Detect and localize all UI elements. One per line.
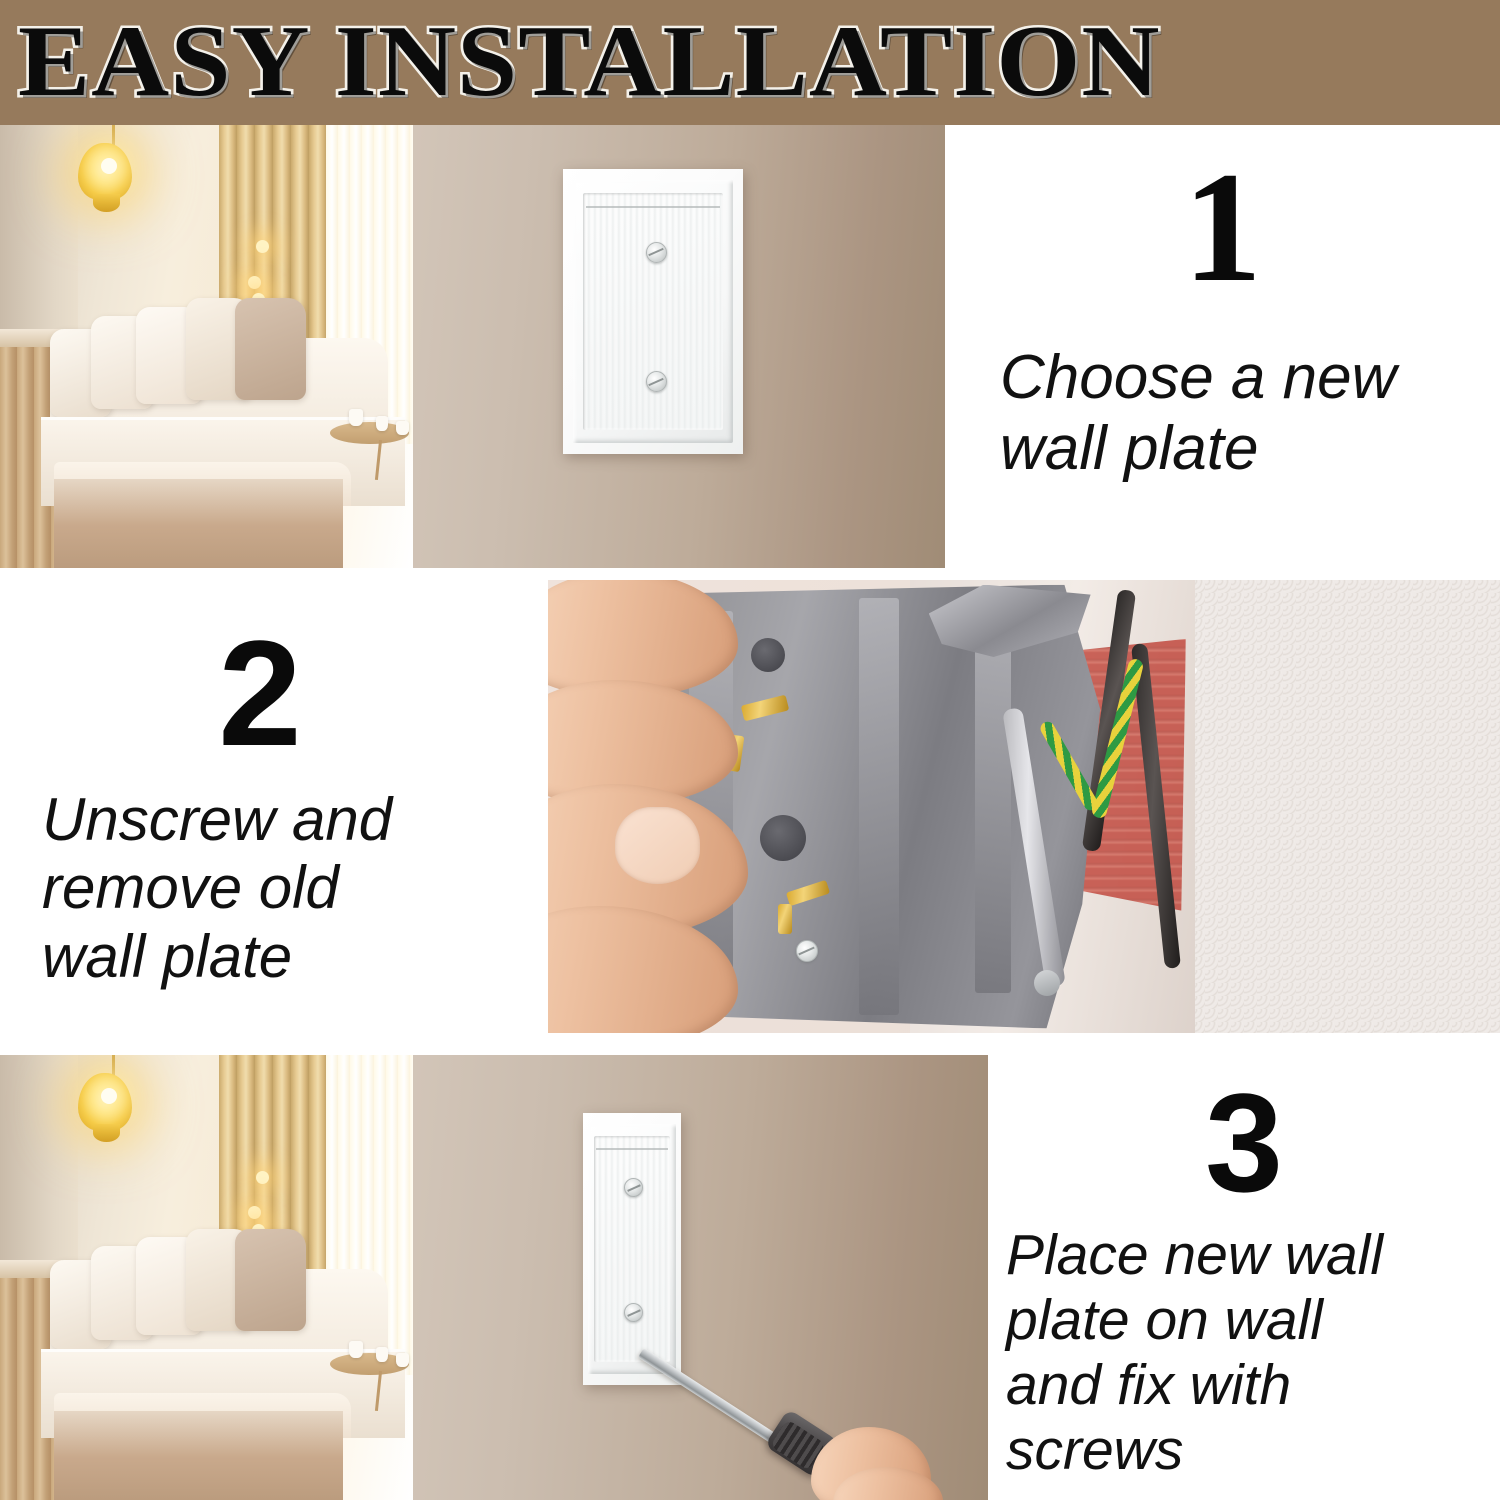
step-3-number: 3 (988, 1073, 1500, 1213)
mechanism-screw (796, 940, 818, 962)
wall-section-2 (413, 1055, 988, 1500)
step-2-number: 2 (0, 618, 520, 768)
plate-inner-panel (583, 193, 723, 430)
ottoman-base (54, 1411, 343, 1500)
step-1-text-panel: 1 Choose a new wall plate (945, 125, 1500, 568)
string-light-1 (256, 1171, 269, 1184)
pendant-lamp-skirt (93, 1124, 120, 1142)
screwdriver-shaft (638, 1348, 778, 1444)
plate-screw-top (646, 242, 667, 263)
outlet-removal-photo (548, 580, 1500, 1033)
step-2-caption-line-2: remove old (42, 854, 542, 922)
step-3-caption: Place new wall plate on wall and fix wit… (1006, 1223, 1500, 1483)
box-rib-2 (859, 598, 899, 1015)
cup-1 (349, 409, 363, 426)
step-1-caption-line-1: Choose a new (1000, 343, 1500, 414)
step-3-row: 3 Place new wall plate on wall and fix w… (0, 1055, 1500, 1500)
ottoman-base (54, 479, 343, 568)
wall-plate-2 (583, 1113, 681, 1385)
header-banner: EASY INSTALLATION (0, 0, 1500, 125)
step-2-text-panel: 2 Unscrew and remove old wall plate (0, 580, 548, 1033)
step-1-row: 1 Choose a new wall plate (0, 125, 1500, 568)
cup-3 (396, 1353, 409, 1367)
step-2-caption-line-1: Unscrew and (42, 786, 542, 854)
pillow-5-taupe (235, 298, 305, 400)
box-aperture-2 (760, 815, 806, 861)
plate-inner-panel (594, 1136, 670, 1362)
brass-contact-3 (786, 880, 830, 906)
brass-contact-1 (741, 695, 790, 722)
pillow-5-taupe (235, 1229, 305, 1331)
cup-3 (396, 421, 409, 435)
plate-top-groove (586, 206, 719, 208)
plate-screw-bottom (646, 371, 667, 392)
box-rib-3 (975, 620, 1011, 993)
lamp-bulb (101, 158, 117, 174)
step-1-number: 1 (945, 149, 1500, 307)
plate-top-groove (596, 1148, 669, 1150)
step-3-text-panel: 3 Place new wall plate on wall and fix w… (988, 1055, 1500, 1500)
infographic-page: EASY INSTALLATION (0, 0, 1500, 1500)
banner-title: EASY INSTALLATION (18, 8, 1161, 116)
wall-plate-1 (563, 169, 743, 454)
step-3-caption-line-4: screws (1006, 1418, 1500, 1483)
step-3-caption-line-3: and fix with (1006, 1353, 1500, 1418)
step-2-row: 2 Unscrew and remove old wall plate (0, 580, 1500, 1033)
living-room-photo-2 (0, 1055, 413, 1500)
step-2-caption: Unscrew and remove old wall plate (42, 786, 542, 991)
cable-connector (1034, 970, 1060, 996)
living-room-photo-1 (0, 125, 413, 568)
cup-2 (376, 1347, 388, 1362)
step-2-caption-line-3: wall plate (42, 923, 542, 991)
cup-2 (376, 416, 388, 431)
step-1-caption: Choose a new wall plate (1000, 343, 1500, 484)
step-1-caption-line-2: wall plate (1000, 414, 1500, 485)
string-light-2 (248, 276, 261, 289)
pendant-lamp-skirt (93, 194, 120, 212)
step-3-caption-line-2: plate on wall (1006, 1288, 1500, 1353)
box-aperture-1 (751, 638, 785, 672)
cup-1 (349, 1341, 363, 1358)
thumbnail (615, 807, 701, 884)
wall-section-1 (413, 125, 945, 568)
brass-contact-4 (778, 904, 792, 934)
step-3-caption-line-1: Place new wall (1006, 1223, 1500, 1288)
